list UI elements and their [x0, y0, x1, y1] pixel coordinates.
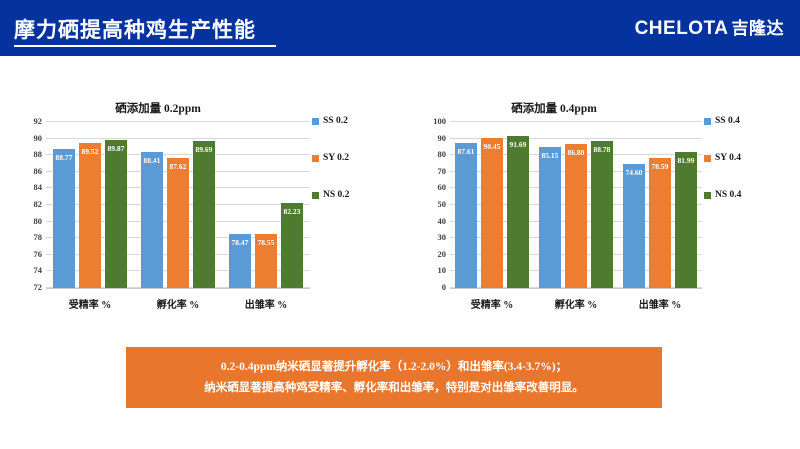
bar-group: 74.6078.5981.99 [621, 122, 699, 288]
legend-item[interactable]: NS 0.4 [704, 190, 796, 200]
y-axis-tick: 50 [438, 199, 447, 209]
legend-swatch-icon [704, 155, 711, 162]
bar: 87.61 [455, 143, 477, 288]
x-axis-label: 孵化率 % [537, 296, 615, 311]
bar-value-label: 87.62 [170, 162, 187, 171]
y-axis-tick: 90 [438, 133, 447, 143]
legend-label: SS 0.4 [715, 116, 740, 126]
y-axis-tick: 100 [433, 116, 446, 126]
legend-item[interactable]: SS 0.4 [704, 116, 796, 126]
legend-label: NS 0.4 [715, 190, 741, 200]
bar: 90.45 [481, 138, 503, 288]
y-axis-tick: 40 [438, 216, 447, 226]
bar-groups: 87.6190.4591.6985.1586.8088.7874.6078.59… [450, 122, 702, 288]
bar-value-label: 78.55 [258, 238, 275, 247]
conclusion-callout: 0.2-0.4ppm纳米硒显著提升孵化率（1.2-2.0%）和出雏率(3.4-3… [126, 347, 662, 408]
bar: 81.99 [675, 152, 697, 288]
bar: 86.80 [565, 144, 587, 288]
y-axis-tick: 80 [438, 149, 447, 159]
bar-value-label: 89.52 [82, 147, 99, 156]
bar-group: 88.4187.6289.69 [137, 122, 219, 288]
brand-name-cn: 吉隆达 [732, 19, 785, 38]
brand-logo: CHELOTA吉隆达 [635, 14, 784, 40]
chart-legend: SS 0.2SY 0.2NS 0.2 [312, 116, 404, 227]
bar-value-label: 89.87 [108, 144, 125, 153]
bar-groups: 88.7789.5289.8788.4187.6289.6978.4778.55… [46, 122, 310, 288]
bar-value-label: 87.61 [458, 147, 475, 156]
plot-area: 929088868482807876747288.7789.5289.8788.… [46, 122, 310, 289]
slide-header: 摩力硒提高种鸡生产性能 CHELOTA吉隆达 [0, 0, 800, 56]
bar: 88.77 [53, 149, 75, 288]
y-axis-tick: 78 [34, 232, 43, 242]
bar: 88.78 [591, 141, 613, 288]
bar-group: 85.1586.8088.78 [537, 122, 615, 288]
y-axis-tick: 80 [34, 216, 43, 226]
bar: 74.60 [623, 164, 645, 288]
chart-legend: SS 0.4SY 0.4NS 0.4 [704, 116, 796, 227]
plot-area: 100908070605040302010087.6190.4591.6985.… [450, 122, 702, 289]
x-axis-label: 受精率 % [49, 296, 131, 311]
legend-item[interactable]: SY 0.4 [704, 153, 796, 163]
y-axis-tick: 72 [34, 282, 43, 292]
y-axis-tick: 92 [34, 116, 43, 126]
chart-selenium-0-2ppm: 硒添加量 0.2ppm 929088868482807876747288.778… [6, 100, 406, 315]
chart-title: 硒添加量 0.2ppm [6, 100, 310, 116]
bar: 91.69 [507, 136, 529, 288]
x-axis-labels: 受精率 %孵化率 %出雏率 % [46, 293, 310, 313]
bar-value-label: 88.77 [56, 153, 73, 162]
bar-group: 78.4778.5582.23 [225, 122, 307, 288]
legend-label: SY 0.2 [323, 153, 349, 163]
bar-value-label: 86.80 [568, 148, 585, 157]
y-axis-tick: 70 [438, 166, 447, 176]
bar-value-label: 82.23 [284, 207, 301, 216]
bar-group: 87.6190.4591.69 [453, 122, 531, 288]
bar: 78.59 [649, 158, 671, 288]
chart-title: 硒添加量 0.4ppm [406, 100, 702, 116]
callout-line-1: 0.2-0.4ppm纳米硒显著提升孵化率（1.2-2.0%）和出雏率(3.4-3… [221, 357, 567, 377]
y-axis-tick: 86 [34, 166, 43, 176]
title-underline [14, 45, 276, 47]
bar-value-label: 88.78 [594, 145, 611, 154]
y-axis-tick: 0 [442, 282, 446, 292]
legend-label: SS 0.2 [323, 116, 348, 126]
bar-value-label: 85.15 [542, 151, 559, 160]
legend-item[interactable]: SS 0.2 [312, 116, 404, 126]
y-axis-tick: 10 [438, 265, 447, 275]
y-axis-tick: 74 [34, 265, 43, 275]
y-axis-tick: 88 [34, 149, 43, 159]
x-axis-label: 出雏率 % [225, 296, 307, 311]
bar-value-label: 91.69 [510, 140, 527, 149]
legend-swatch-icon [704, 118, 711, 125]
bar-value-label: 78.47 [232, 238, 249, 247]
y-axis-tick: 60 [438, 182, 447, 192]
legend-label: SY 0.4 [715, 153, 741, 163]
legend-swatch-icon [312, 155, 319, 162]
bar: 89.52 [79, 143, 101, 288]
bar: 82.23 [281, 203, 303, 288]
legend-swatch-icon [312, 192, 319, 199]
x-axis-label: 出雏率 % [621, 296, 699, 311]
y-axis-tick: 76 [34, 249, 43, 259]
y-axis-tick: 90 [34, 133, 43, 143]
legend-label: NS 0.2 [323, 190, 349, 200]
x-axis-labels: 受精率 %孵化率 %出雏率 % [450, 293, 702, 313]
bar: 87.62 [167, 158, 189, 288]
bar: 78.47 [229, 234, 251, 288]
legend-item[interactable]: SY 0.2 [312, 153, 404, 163]
y-axis-tick: 20 [438, 249, 447, 259]
y-axis-tick: 84 [34, 182, 43, 192]
legend-item[interactable]: NS 0.2 [312, 190, 404, 200]
x-axis-label: 孵化率 % [137, 296, 219, 311]
page-title: 摩力硒提高种鸡生产性能 [14, 14, 256, 44]
bar-group: 88.7789.5289.87 [49, 122, 131, 288]
bar: 78.55 [255, 234, 277, 288]
bar-value-label: 90.45 [484, 142, 501, 151]
y-axis-tick: 82 [34, 199, 43, 209]
bar: 89.69 [193, 141, 215, 288]
callout-line-2: 纳米硒显著提高种鸡受精率、孵化率和出雏率，特别是对出雏率改善明显。 [204, 378, 584, 398]
bar-value-label: 78.59 [652, 162, 669, 171]
bar-value-label: 81.99 [678, 156, 695, 165]
bar: 89.87 [105, 140, 127, 288]
legend-swatch-icon [704, 192, 711, 199]
y-axis-tick: 30 [438, 232, 447, 242]
legend-swatch-icon [312, 118, 319, 125]
bar-value-label: 88.41 [144, 156, 161, 165]
bar-value-label: 89.69 [196, 145, 213, 154]
chart-selenium-0-4ppm: 硒添加量 0.4ppm 100908070605040302010087.619… [406, 100, 798, 315]
brand-name-en: CHELOTA [635, 18, 729, 39]
bar: 88.41 [141, 152, 163, 288]
bar: 85.15 [539, 147, 561, 288]
bar-value-label: 74.60 [626, 168, 643, 177]
x-axis-label: 受精率 % [453, 296, 531, 311]
